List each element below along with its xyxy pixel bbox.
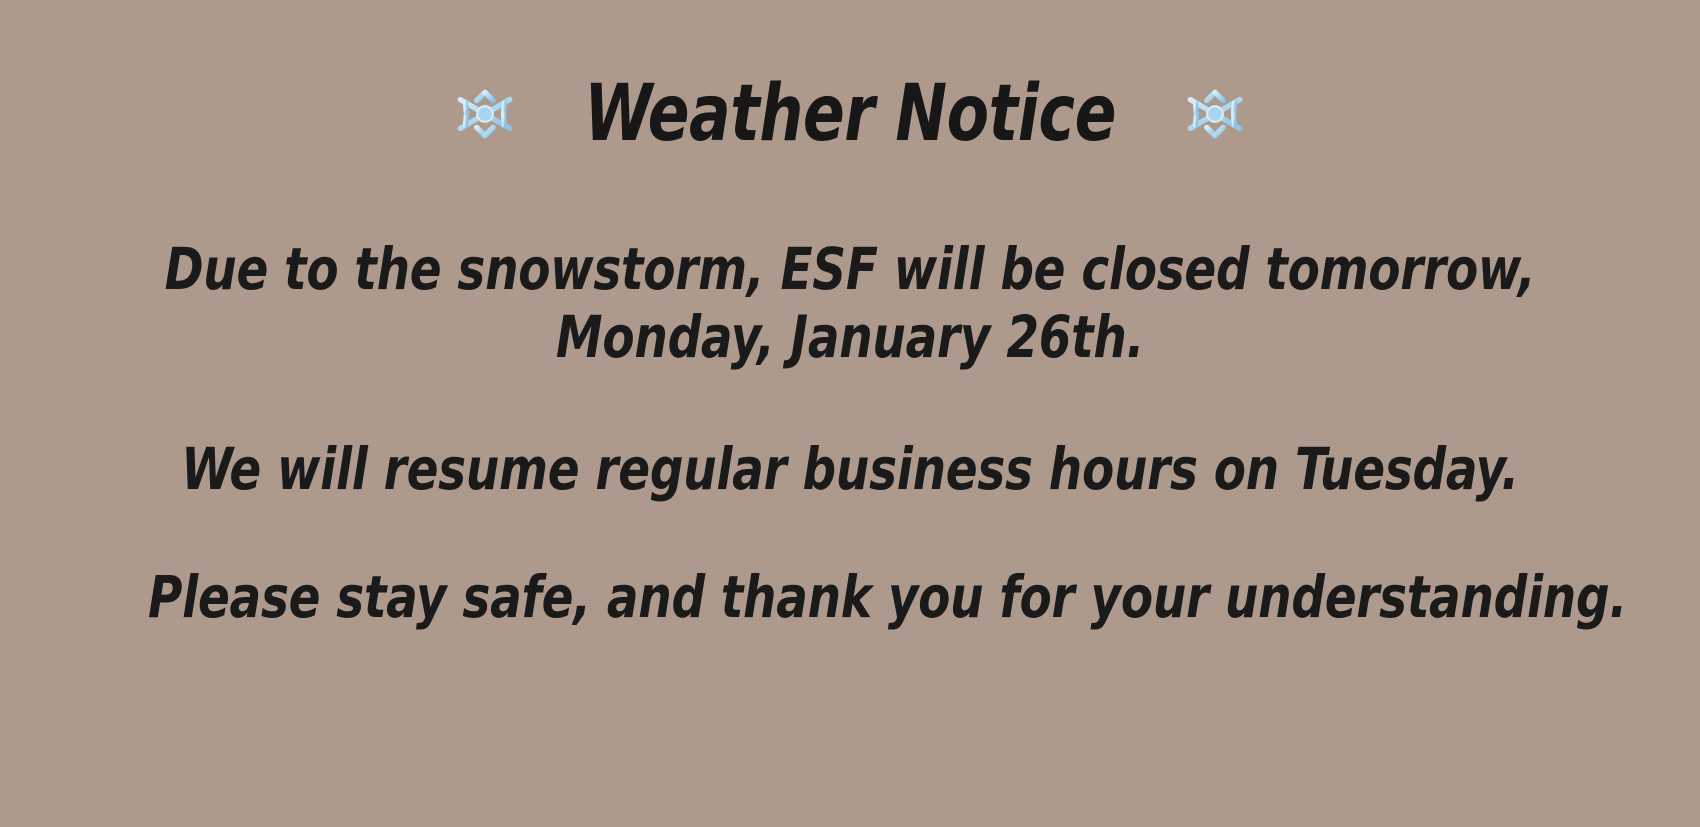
notice-paragraph-resume-hours: We will resume regular business hours on… [148,436,1552,504]
notice-paragraph-closure-announcement: Due to the snowstorm, ESF will be closed… [148,236,1552,372]
notice-line: Monday, January 26th. [148,304,1552,372]
notice-line: We will resume regular business hours on… [148,436,1552,504]
notice-body: Due to the snowstorm, ESF will be closed… [0,236,1700,631]
page-title-text: Weather Notice [584,75,1116,153]
weather-notice-card: Weather Notice [0,0,1700,827]
notice-paragraph-closing-remark: Please stay safe, and thank you for your… [148,564,1552,632]
snowflake-icon-right [1182,81,1248,147]
notice-line: Due to the snowstorm, ESF will be closed… [148,236,1552,304]
notice-line: Please stay safe, and thank you for your… [148,564,1552,632]
snowflake-icon-left [452,81,518,147]
page-title: Weather Notice [0,58,1700,170]
